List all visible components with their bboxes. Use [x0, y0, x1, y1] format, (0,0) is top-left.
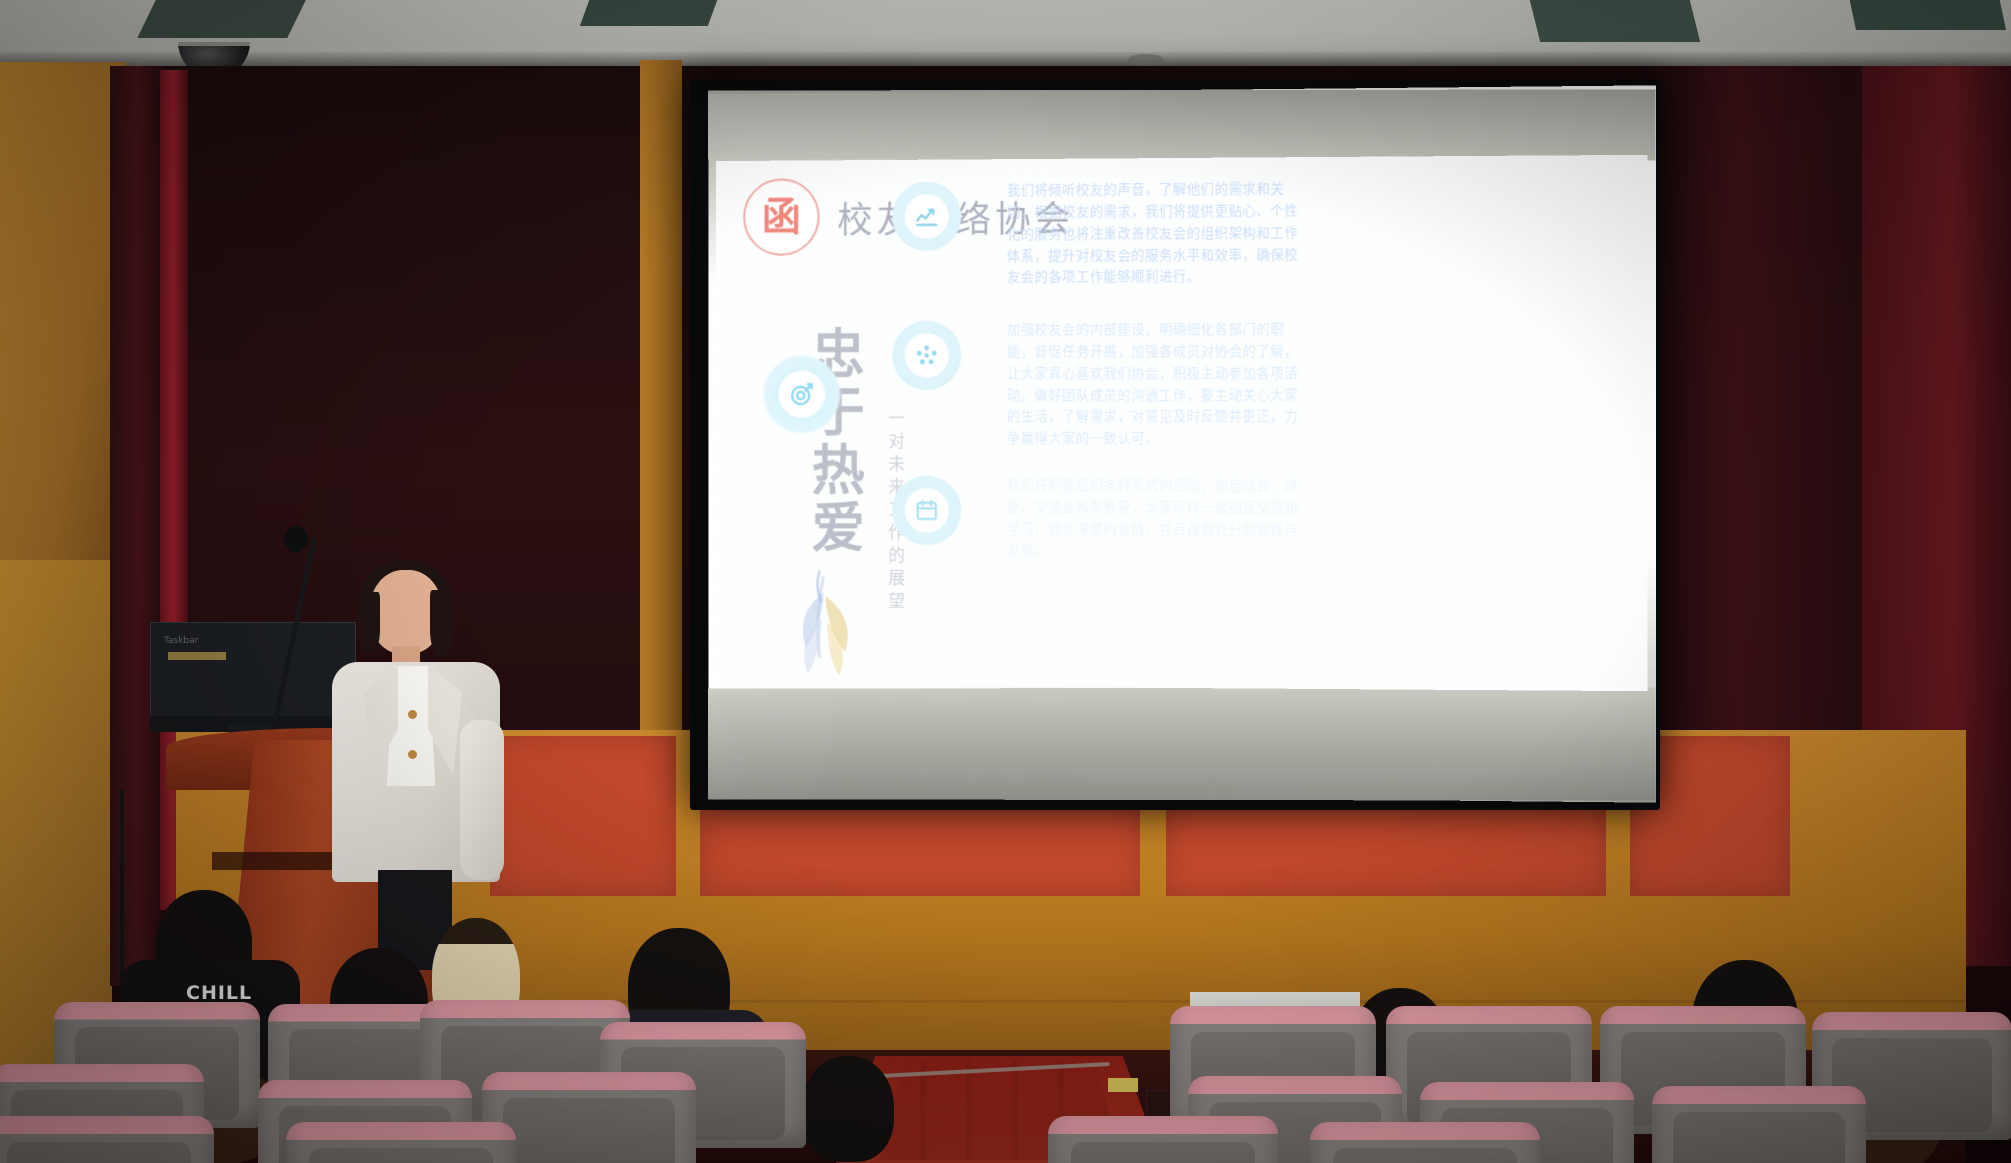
ceiling-panel [137, 0, 308, 38]
network-nodes-icon [892, 321, 961, 391]
auditorium-scene: 函 校友联络协会 忠于热爱 一对未来工作的展望 [0, 0, 2011, 1163]
presentation-slide: 函 校友联络协会 忠于热爱 一对未来工作的展望 [716, 155, 1647, 691]
ceiling-panel [580, 0, 720, 26]
seal-glyph: 函 [762, 197, 801, 237]
slide-block-text: 加强校友会的内部建设，明确细化各部门的职能，督促任务开展，加强各成员对协会的了解… [1007, 320, 1306, 452]
slide-block: 我们将倾听校友的声音，了解他们的需求和关切，根据校友的需求，我们将提供更贴心、个… [892, 179, 1306, 290]
ceiling-panel [1528, 0, 1700, 42]
stage-panel [490, 736, 676, 896]
slide-block-text: 我们将积极组织各种形式的活动，如座谈会、讲座、交流会和聚餐等，大家可以一起相互交… [1007, 476, 1306, 564]
auditorium-seat[interactable] [1048, 1116, 1278, 1163]
smoke-detector-icon [1128, 54, 1164, 66]
audience-shirt-text: CHILL [186, 982, 252, 1004]
presenter-arm [460, 720, 504, 880]
presenter [330, 570, 510, 930]
target-dart-icon [763, 355, 841, 434]
microphone-cable [120, 790, 125, 980]
shirt-button [408, 750, 417, 759]
calendar-event-icon [892, 476, 961, 546]
screen-bottom-band [708, 687, 1655, 800]
monitor-label: Taskbar [164, 636, 198, 646]
slide-block: 加强校友会的内部建设，明确细化各部门的职能，督促任务开展，加强各成员对协会的了解… [892, 320, 1306, 452]
shirt-button [408, 710, 417, 719]
iris-flower-illustration [773, 563, 881, 682]
screen-top-band [708, 90, 1655, 161]
university-seal-logo: 函 [743, 178, 819, 256]
slide-block-text: 我们将倾听校友的声音，了解他们的需求和关切，根据校友的需求，我们将提供更贴心、个… [1007, 179, 1306, 290]
auditorium-seat[interactable] [0, 1116, 214, 1163]
slide-block: 我们将积极组织各种形式的活动，如座谈会、讲座、交流会和聚餐等，大家可以一起相互交… [892, 476, 1306, 564]
ceiling-panel [1848, 0, 2006, 30]
monitor-highlight [168, 652, 226, 660]
stage-wood-column [640, 60, 682, 760]
presenter-hair-side [430, 590, 454, 656]
microphone-head [284, 526, 308, 552]
yellow-note [1108, 1078, 1138, 1092]
audience-head [802, 1056, 894, 1162]
auditorium-seat[interactable] [1310, 1122, 1540, 1163]
presenter-hair-side [358, 592, 380, 654]
trending-chart-icon [892, 181, 961, 251]
auditorium-seat[interactable] [286, 1122, 516, 1163]
auditorium-seat[interactable] [1652, 1086, 1866, 1163]
